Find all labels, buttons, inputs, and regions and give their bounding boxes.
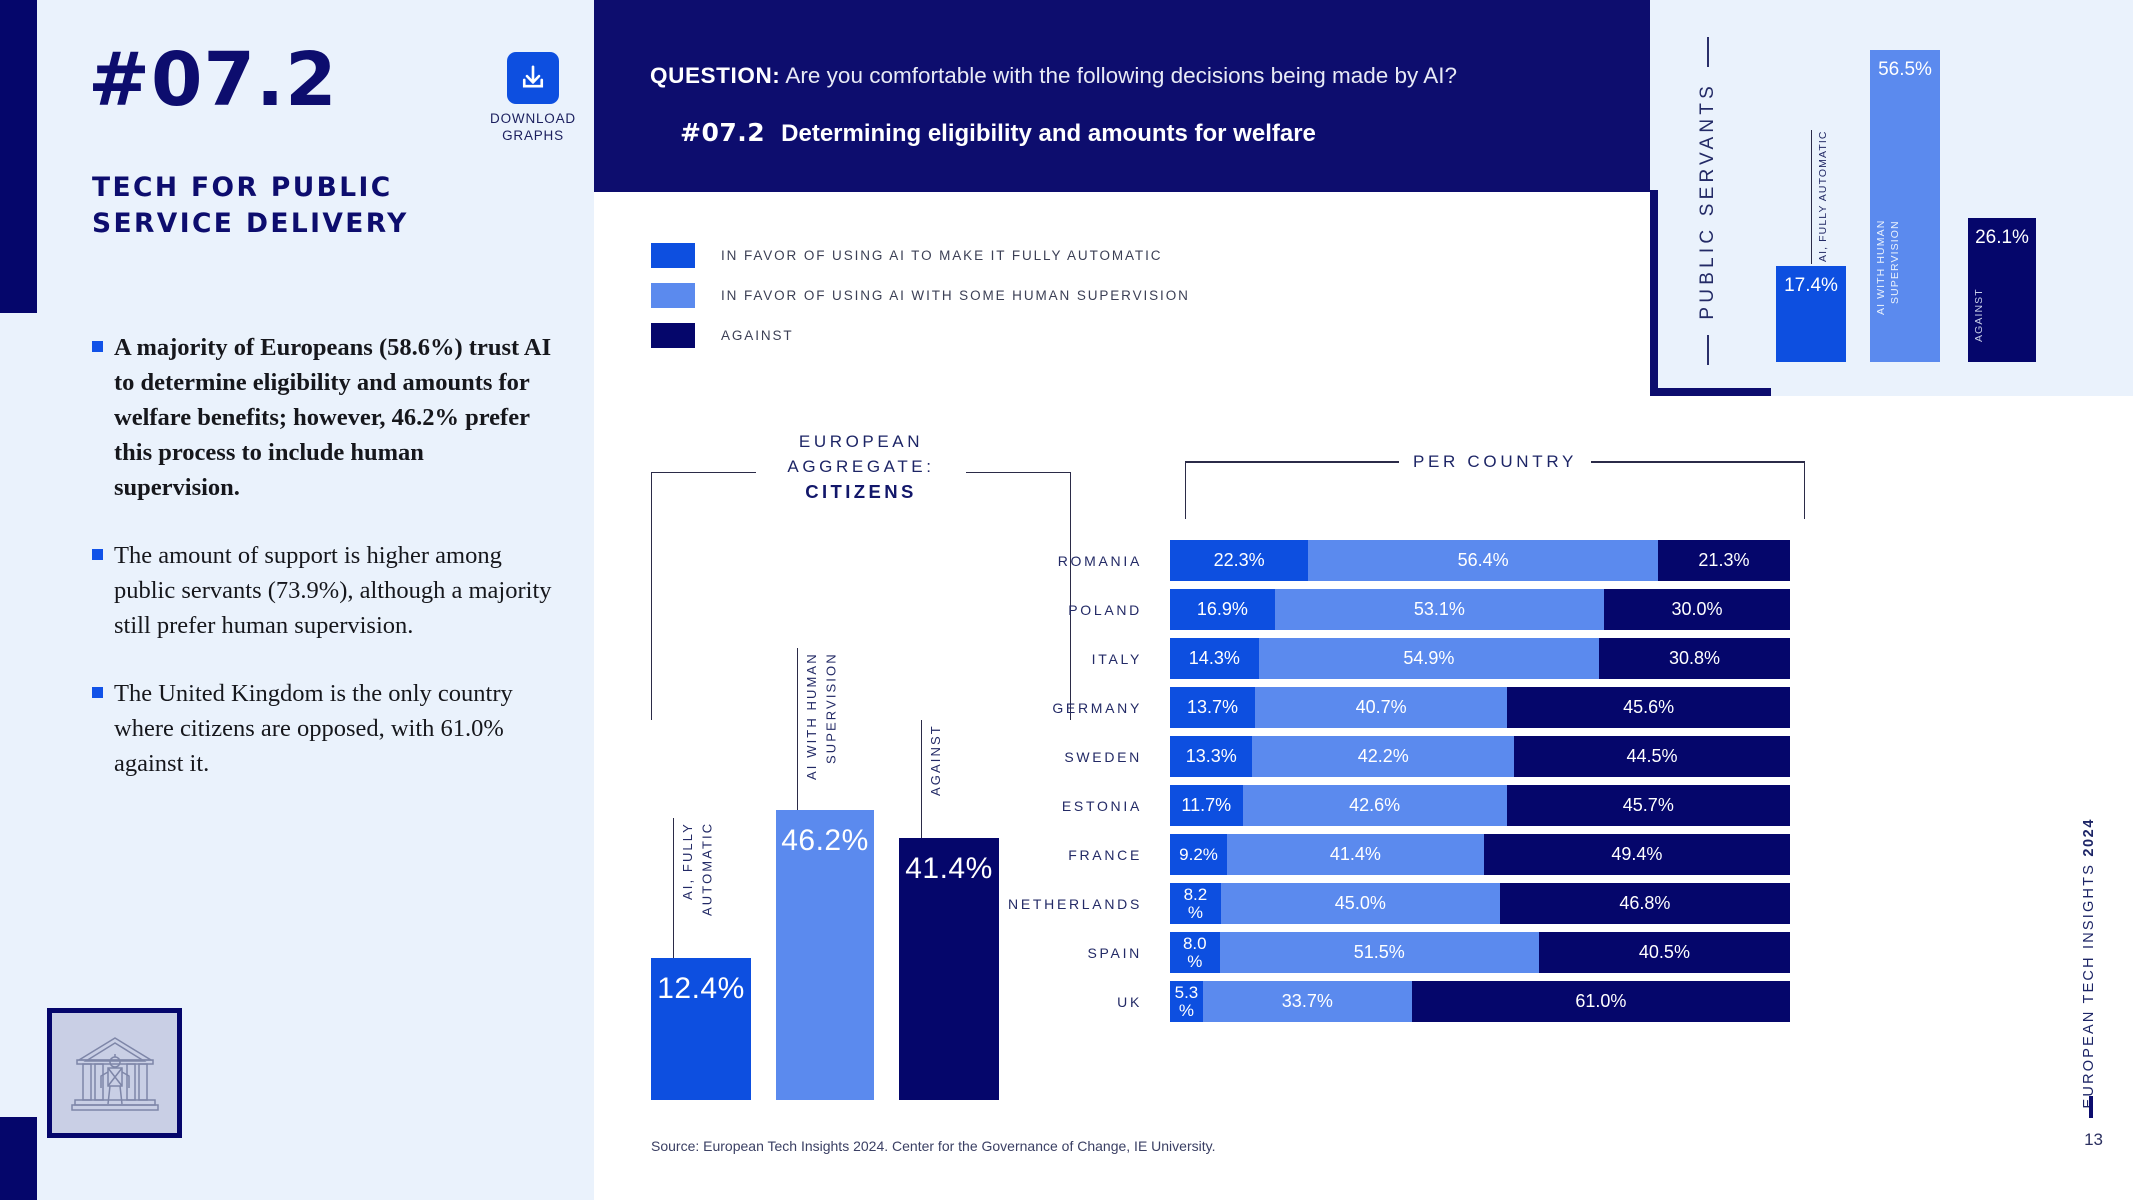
question-header: QUESTION: Are you comfortable with the f…	[594, 0, 1650, 192]
segment-fully-automatic: 14.3%	[1170, 638, 1259, 679]
segment-fully-automatic: 11.7%	[1170, 785, 1243, 826]
bar-ai-fully-automatic: 12.4%	[651, 958, 751, 1100]
question-text: Are you comfortable with the following d…	[785, 63, 1457, 88]
country-label: POLAND	[850, 602, 1170, 618]
stacked-bar: 5.3 % 33.7% 61.0%	[1170, 981, 1790, 1022]
legend-label: AGAINST	[721, 328, 794, 343]
bar-category-1: AI, FULLY AUTOMATIC	[678, 822, 717, 958]
segment-fully-automatic: 8.2 %	[1170, 883, 1221, 924]
leader-line-2	[797, 648, 798, 810]
rail-tick	[2089, 1096, 2093, 1118]
segment-fully-automatic: 9.2%	[1170, 834, 1227, 875]
title-rule-right	[1591, 461, 1805, 462]
key-findings-list: A majority of Europeans (58.6%) trust AI…	[92, 330, 552, 814]
stacked-bar: 22.3% 56.4% 21.3%	[1170, 540, 1790, 581]
bar-category-1: AI, FULLY AUTOMATIC	[1816, 130, 1830, 290]
public-servants-label-text: PUBLIC SERVANTS	[1697, 82, 1719, 320]
bar-category-2: AI WITH HUMAN SUPERVISION	[802, 652, 841, 810]
legend-label: IN FAVOR OF USING AI WITH SOME HUMAN SUP…	[721, 288, 1190, 303]
panel-border-left	[1650, 190, 1658, 396]
stacked-bar: 11.7% 42.6% 45.7%	[1170, 785, 1790, 826]
public-servants-bar-chart: 17.4% AI, FULLY AUTOMATIC 56.5% AI WITH …	[1770, 40, 2100, 370]
segment-against: 46.8%	[1500, 883, 1790, 924]
public-servants-vertical-label: PUBLIC SERVANTS	[1690, 36, 1726, 366]
segment-fully-automatic: 8.0 %	[1170, 932, 1220, 973]
section-title: TECH FOR PUBLIC SERVICE DELIVERY	[92, 170, 532, 242]
frame-top-right	[966, 472, 1071, 473]
segment-human-supervision: 42.6%	[1243, 785, 1507, 826]
subtitle-line: #07.2Determining eligibility and amounts…	[680, 118, 1316, 148]
subtitle-text: Determining eligibility and amounts for …	[781, 120, 1316, 147]
segment-against: 49.4%	[1484, 834, 1790, 875]
legend-swatch	[651, 283, 695, 308]
rule-top	[1707, 37, 1708, 67]
table-row: POLAND 16.9% 53.1% 30.0%	[850, 589, 1805, 630]
subtitle-number: #07.2	[680, 118, 765, 147]
segment-against: 61.0%	[1412, 981, 1790, 1022]
list-item: A majority of Europeans (58.6%) trust AI…	[92, 330, 552, 505]
list-item: The amount of support is higher among pu…	[92, 538, 552, 643]
panel-border-bottom	[1650, 388, 1771, 396]
country-label: ESTONIA	[850, 798, 1170, 814]
table-row: UK 5.3 % 33.7% 61.0%	[850, 981, 1805, 1022]
title-rule-left	[1185, 461, 1399, 462]
slide-number: #07.2	[88, 37, 338, 123]
segment-human-supervision: 53.1%	[1275, 589, 1604, 630]
country-label: SWEDEN	[850, 749, 1170, 765]
stacked-bar: 8.2 % 45.0% 46.8%	[1170, 883, 1790, 924]
frame-top-left	[651, 472, 756, 473]
legend-swatch	[651, 243, 695, 268]
country-label: FRANCE	[850, 847, 1170, 863]
segment-against: 21.3%	[1658, 540, 1790, 581]
legend-swatch	[651, 323, 695, 348]
bar-value: 12.4%	[651, 972, 751, 1006]
table-row: ITALY 14.3% 54.9% 30.8%	[850, 638, 1805, 679]
bar-value: 26.1%	[1975, 227, 2029, 249]
legend-item-against: AGAINST	[651, 315, 1190, 355]
segment-against: 40.5%	[1539, 932, 1790, 973]
segment-against: 45.6%	[1507, 687, 1790, 728]
download-icon	[507, 52, 559, 104]
rule-bottom	[1707, 335, 1708, 365]
country-label: ITALY	[850, 651, 1170, 667]
segment-human-supervision: 45.0%	[1221, 883, 1500, 924]
segment-human-supervision: 33.7%	[1203, 981, 1412, 1022]
legend: IN FAVOR OF USING AI TO MAKE IT FULLY AU…	[651, 235, 1190, 355]
stacked-bar: 14.3% 54.9% 30.8%	[1170, 638, 1790, 679]
table-row: NETHERLANDS 8.2 % 45.0% 46.8%	[850, 883, 1805, 924]
stacked-bar: 16.9% 53.1% 30.0%	[1170, 589, 1790, 630]
leader-line-1	[673, 818, 674, 958]
segment-against: 44.5%	[1514, 736, 1790, 777]
segment-human-supervision: 51.5%	[1220, 932, 1539, 973]
government-building-robot-icon	[47, 1008, 182, 1138]
frame-right	[1804, 461, 1805, 519]
country-label: GERMANY	[850, 700, 1170, 716]
leader-line-1	[1811, 130, 1812, 264]
table-row: FRANCE 9.2% 41.4% 49.4%	[850, 834, 1805, 875]
country-label: NETHERLANDS	[850, 896, 1170, 912]
infographic-slide: #07.2 DOWNLOAD GRAPHS TECH FOR PUBLIC SE…	[0, 0, 2133, 1200]
legend-label: IN FAVOR OF USING AI TO MAKE IT FULLY AU…	[721, 248, 1162, 263]
question-line: QUESTION: Are you comfortable with the f…	[650, 63, 1457, 89]
question-label: QUESTION:	[650, 63, 780, 88]
aggregate-title-line3: CITIZENS	[651, 481, 1071, 503]
aggregate-title-line2: AGGREGATE:	[651, 455, 1071, 480]
segment-human-supervision: 42.2%	[1252, 736, 1514, 777]
rail-text-year: 2024	[2081, 818, 2097, 857]
aggregate-title: EUROPEAN AGGREGATE: CITIZENS	[651, 430, 1071, 503]
table-row: GERMANY 13.7% 40.7% 45.6%	[850, 687, 1805, 728]
per-country-rows: ROMANIA 22.3% 56.4% 21.3% POLAND 16.9% 5…	[850, 540, 1805, 1030]
accent-bar-top	[0, 0, 37, 313]
segment-fully-automatic: 13.7%	[1170, 687, 1255, 728]
stacked-bar: 13.7% 40.7% 45.6%	[1170, 687, 1790, 728]
source-note: Source: European Tech Insights 2024. Cen…	[651, 1138, 1215, 1154]
segment-fully-automatic: 22.3%	[1170, 540, 1308, 581]
per-country-title: PER COUNTRY	[1185, 452, 1805, 472]
segment-fully-automatic: 5.3 %	[1170, 981, 1203, 1022]
legend-item-fully-automatic: IN FAVOR OF USING AI TO MAKE IT FULLY AU…	[651, 235, 1190, 275]
legend-item-human-supervision: IN FAVOR OF USING AI WITH SOME HUMAN SUP…	[651, 275, 1190, 315]
country-label: SPAIN	[850, 945, 1170, 961]
frame-left	[1185, 461, 1186, 519]
segment-human-supervision: 40.7%	[1255, 687, 1507, 728]
stacked-bar: 8.0 % 51.5% 40.5%	[1170, 932, 1790, 973]
aggregate-title-line1: EUROPEAN	[651, 430, 1071, 455]
table-row: SWEDEN 13.3% 42.2% 44.5%	[850, 736, 1805, 777]
segment-against: 30.0%	[1604, 589, 1790, 630]
segment-fully-automatic: 13.3%	[1170, 736, 1252, 777]
country-label: ROMANIA	[850, 553, 1170, 569]
per-country-title-text: PER COUNTRY	[1413, 452, 1577, 472]
list-item: The United Kingdom is the only country w…	[92, 676, 552, 781]
download-graphs-button[interactable]: DOWNLOAD GRAPHS	[478, 52, 588, 145]
rail-text-plain: EUROPEAN TECH INSIGHTS	[2081, 857, 2097, 1109]
download-graphs-label: DOWNLOAD GRAPHS	[478, 111, 588, 145]
bar-ai-fully-automatic: 17.4%	[1776, 266, 1846, 362]
stacked-bar: 13.3% 42.2% 44.5%	[1170, 736, 1790, 777]
segment-human-supervision: 56.4%	[1308, 540, 1658, 581]
table-row: ROMANIA 22.3% 56.4% 21.3%	[850, 540, 1805, 581]
segment-against: 30.8%	[1599, 638, 1790, 679]
report-rail-label: EUROPEAN TECH INSIGHTS 2024	[2081, 818, 2097, 1108]
country-label: UK	[850, 994, 1170, 1010]
table-row: ESTONIA 11.7% 42.6% 45.7%	[850, 785, 1805, 826]
accent-bar-bottom	[0, 1117, 37, 1200]
bar-value: 56.5%	[1878, 59, 1932, 81]
segment-human-supervision: 54.9%	[1259, 638, 1599, 679]
stacked-bar: 9.2% 41.4% 49.4%	[1170, 834, 1790, 875]
bar-category-3: AGAINST	[1972, 288, 1986, 364]
segment-human-supervision: 41.4%	[1227, 834, 1484, 875]
segment-fully-automatic: 16.9%	[1170, 589, 1275, 630]
left-sidebar: #07.2 DOWNLOAD GRAPHS TECH FOR PUBLIC SE…	[0, 0, 594, 1200]
bar-category-2: AI WITH HUMAN SUPERVISION	[1874, 220, 1902, 365]
segment-against: 45.7%	[1507, 785, 1790, 826]
table-row: SPAIN 8.0 % 51.5% 40.5%	[850, 932, 1805, 973]
page-number: 13	[2084, 1130, 2103, 1150]
